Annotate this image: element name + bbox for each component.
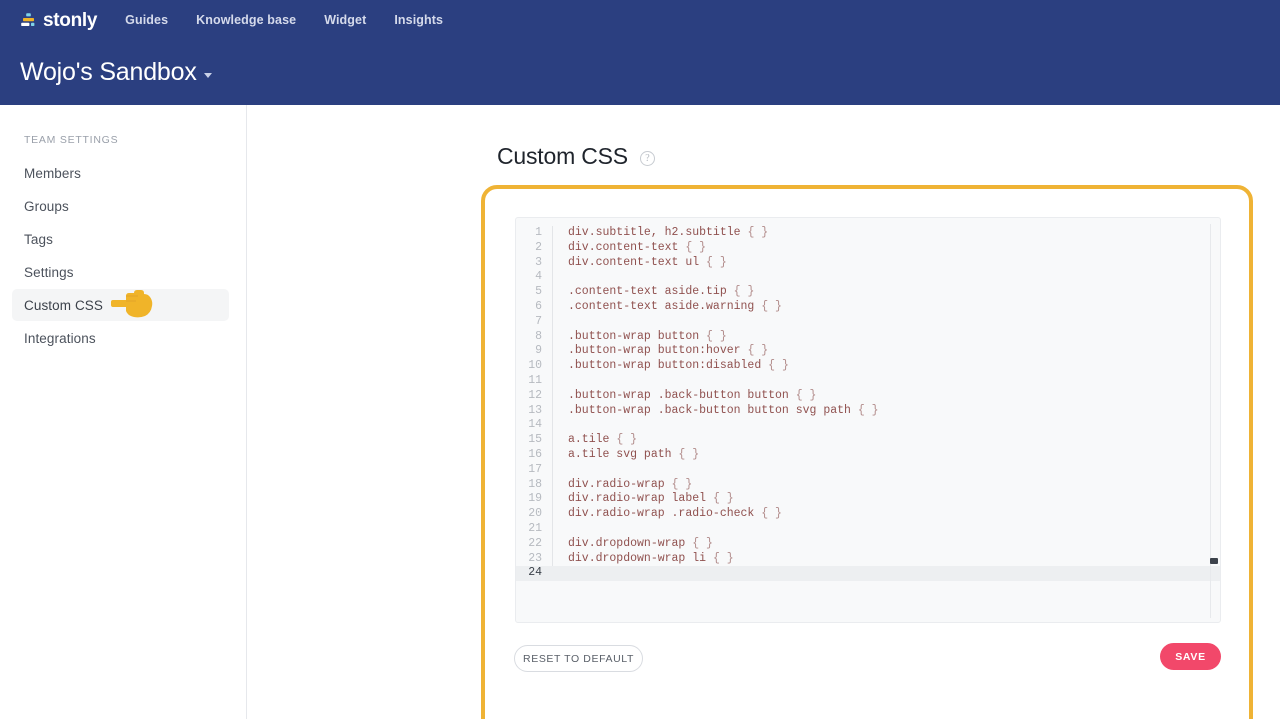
main-content: Custom CSS ? 1div.subtitle, h2.subtitle … xyxy=(247,105,1280,719)
code-text: div.radio-wrap { } xyxy=(568,478,692,493)
code-line[interactable]: 20div.radio-wrap .radio-check { } xyxy=(516,507,1220,522)
line-number: 11 xyxy=(516,374,552,389)
nav-item-guides[interactable]: Guides xyxy=(125,13,168,27)
code-line[interactable]: 18div.radio-wrap { } xyxy=(516,478,1220,493)
editor-scrollbar-thumb[interactable] xyxy=(1210,558,1218,564)
sidebar: TEAM SETTINGS Members Groups Tags Settin… xyxy=(0,105,247,719)
line-number: 19 xyxy=(516,492,552,507)
line-number: 15 xyxy=(516,433,552,448)
gutter-divider xyxy=(552,389,553,404)
code-text: div.content-text ul { } xyxy=(568,256,727,271)
sidebar-item-custom-css[interactable]: Custom CSS xyxy=(12,289,229,321)
code-text: .button-wrap button:disabled { } xyxy=(568,359,789,374)
gutter-divider xyxy=(552,478,553,493)
save-button[interactable]: SAVE xyxy=(1160,643,1221,670)
sidebar-list: Members Groups Tags Settings Custom CSS … xyxy=(12,157,229,355)
line-number: 17 xyxy=(516,463,552,478)
line-number: 2 xyxy=(516,241,552,256)
code-text: div.radio-wrap .radio-check { } xyxy=(568,507,782,522)
sidebar-item-label: Members xyxy=(24,166,81,181)
line-number: 23 xyxy=(516,552,552,567)
code-line[interactable]: 22div.dropdown-wrap { } xyxy=(516,537,1220,552)
code-line[interactable]: 16a.tile svg path { } xyxy=(516,448,1220,463)
line-number: 18 xyxy=(516,478,552,493)
code-lines-container: 1div.subtitle, h2.subtitle { }2div.conte… xyxy=(516,226,1220,581)
code-text: a.tile svg path { } xyxy=(568,448,699,463)
code-text: .button-wrap button { } xyxy=(568,330,727,345)
line-number: 22 xyxy=(516,537,552,552)
sidebar-item-label: Settings xyxy=(24,265,74,280)
line-number: 24 xyxy=(516,566,552,581)
line-number: 3 xyxy=(516,256,552,271)
help-circle-icon[interactable]: ? xyxy=(640,151,655,166)
code-text: div.dropdown-wrap li { } xyxy=(568,552,734,567)
code-line[interactable]: 11 xyxy=(516,374,1220,389)
line-number: 1 xyxy=(516,226,552,241)
gutter-divider xyxy=(552,374,553,389)
code-text: .button-wrap .back-button button svg pat… xyxy=(568,404,879,419)
nav-item-insights[interactable]: Insights xyxy=(394,13,443,27)
code-line[interactable]: 13.button-wrap .back-button button svg p… xyxy=(516,404,1220,419)
gutter-divider xyxy=(552,522,553,537)
gutter-divider xyxy=(552,241,553,256)
code-line[interactable]: 6.content-text aside.warning { } xyxy=(516,300,1220,315)
sidebar-item-tags[interactable]: Tags xyxy=(12,223,229,255)
code-line[interactable]: 19div.radio-wrap label { } xyxy=(516,492,1220,507)
code-text: .button-wrap .back-button button { } xyxy=(568,389,816,404)
gutter-divider xyxy=(552,300,553,315)
brand-name: stonly xyxy=(43,11,97,30)
line-number: 9 xyxy=(516,344,552,359)
gutter-divider xyxy=(552,226,553,241)
sidebar-item-settings[interactable]: Settings xyxy=(12,256,229,288)
code-line[interactable]: 7 xyxy=(516,315,1220,330)
code-text: .content-text aside.tip { } xyxy=(568,285,754,300)
gutter-divider xyxy=(552,492,553,507)
nav-item-knowledge-base[interactable]: Knowledge base xyxy=(196,13,296,27)
code-line[interactable]: 5.content-text aside.tip { } xyxy=(516,285,1220,300)
page-title: Custom CSS xyxy=(497,143,628,170)
code-line[interactable]: 24 xyxy=(516,566,1220,581)
gutter-divider xyxy=(552,552,553,567)
nav-item-widget[interactable]: Widget xyxy=(324,13,366,27)
line-number: 20 xyxy=(516,507,552,522)
reset-to-default-button[interactable]: RESET TO DEFAULT xyxy=(514,645,643,672)
sidebar-item-label: Integrations xyxy=(24,331,96,346)
code-line[interactable]: 23div.dropdown-wrap li { } xyxy=(516,552,1220,567)
code-text: div.subtitle, h2.subtitle { } xyxy=(568,226,768,241)
gutter-divider xyxy=(552,330,553,345)
sidebar-item-groups[interactable]: Groups xyxy=(12,190,229,222)
code-line[interactable]: 3div.content-text ul { } xyxy=(516,256,1220,271)
line-number: 12 xyxy=(516,389,552,404)
chevron-down-icon xyxy=(204,73,212,78)
gutter-divider xyxy=(552,463,553,478)
sidebar-item-label: Tags xyxy=(24,232,53,247)
code-line[interactable]: 1div.subtitle, h2.subtitle { } xyxy=(516,226,1220,241)
stonly-logo-icon xyxy=(20,12,37,29)
gutter-divider xyxy=(552,256,553,271)
code-text: div.radio-wrap label { } xyxy=(568,492,734,507)
code-line[interactable]: 2div.content-text { } xyxy=(516,241,1220,256)
code-text: div.content-text { } xyxy=(568,241,706,256)
top-navigation-bar: stonly Guides Knowledge base Widget Insi… xyxy=(0,0,1280,105)
gutter-divider xyxy=(552,285,553,300)
line-number: 6 xyxy=(516,300,552,315)
nav-links: Guides Knowledge base Widget Insights xyxy=(125,13,443,27)
gutter-divider xyxy=(552,448,553,463)
css-code-editor[interactable]: 1div.subtitle, h2.subtitle { }2div.conte… xyxy=(515,217,1221,623)
code-line[interactable]: 10.button-wrap button:disabled { } xyxy=(516,359,1220,374)
gutter-divider xyxy=(552,270,553,285)
gutter-divider xyxy=(552,418,553,433)
team-selector[interactable]: Wojo's Sandbox xyxy=(20,58,212,87)
gutter-divider xyxy=(552,359,553,374)
line-number: 7 xyxy=(516,315,552,330)
code-line[interactable]: 21 xyxy=(516,522,1220,537)
code-text: a.tile { } xyxy=(568,433,637,448)
code-line[interactable]: 12.button-wrap .back-button button { } xyxy=(516,389,1220,404)
code-text: .button-wrap button:hover { } xyxy=(568,344,768,359)
code-line[interactable]: 17 xyxy=(516,463,1220,478)
sidebar-item-label: Groups xyxy=(24,199,69,214)
sidebar-item-integrations[interactable]: Integrations xyxy=(12,322,229,354)
gutter-divider xyxy=(552,404,553,419)
nav-row: stonly Guides Knowledge base Widget Insi… xyxy=(0,0,1280,40)
sidebar-heading: TEAM SETTINGS xyxy=(24,134,118,146)
code-text: .content-text aside.warning { } xyxy=(568,300,782,315)
gutter-divider xyxy=(552,566,553,581)
line-number: 14 xyxy=(516,418,552,433)
gutter-divider xyxy=(552,433,553,448)
line-number: 4 xyxy=(516,270,552,285)
gutter-divider xyxy=(552,537,553,552)
gutter-divider xyxy=(552,507,553,522)
code-line[interactable]: 8.button-wrap button { } xyxy=(516,330,1220,345)
sidebar-item-members[interactable]: Members xyxy=(12,157,229,189)
code-line[interactable]: 15a.tile { } xyxy=(516,433,1220,448)
page-header: Custom CSS ? xyxy=(497,143,655,170)
gutter-divider xyxy=(552,315,553,330)
app-root: stonly Guides Knowledge base Widget Insi… xyxy=(0,0,1280,719)
sidebar-item-label: Custom CSS xyxy=(24,298,103,313)
line-number: 13 xyxy=(516,404,552,419)
line-number: 21 xyxy=(516,522,552,537)
code-line[interactable]: 4 xyxy=(516,270,1220,285)
code-line[interactable]: 9.button-wrap button:hover { } xyxy=(516,344,1220,359)
line-number: 8 xyxy=(516,330,552,345)
gutter-divider xyxy=(552,344,553,359)
line-number: 16 xyxy=(516,448,552,463)
line-number: 10 xyxy=(516,359,552,374)
brand-logo[interactable]: stonly xyxy=(20,11,97,30)
line-number: 5 xyxy=(516,285,552,300)
team-title: Wojo's Sandbox xyxy=(20,58,197,87)
code-line[interactable]: 14 xyxy=(516,418,1220,433)
code-text: div.dropdown-wrap { } xyxy=(568,537,713,552)
